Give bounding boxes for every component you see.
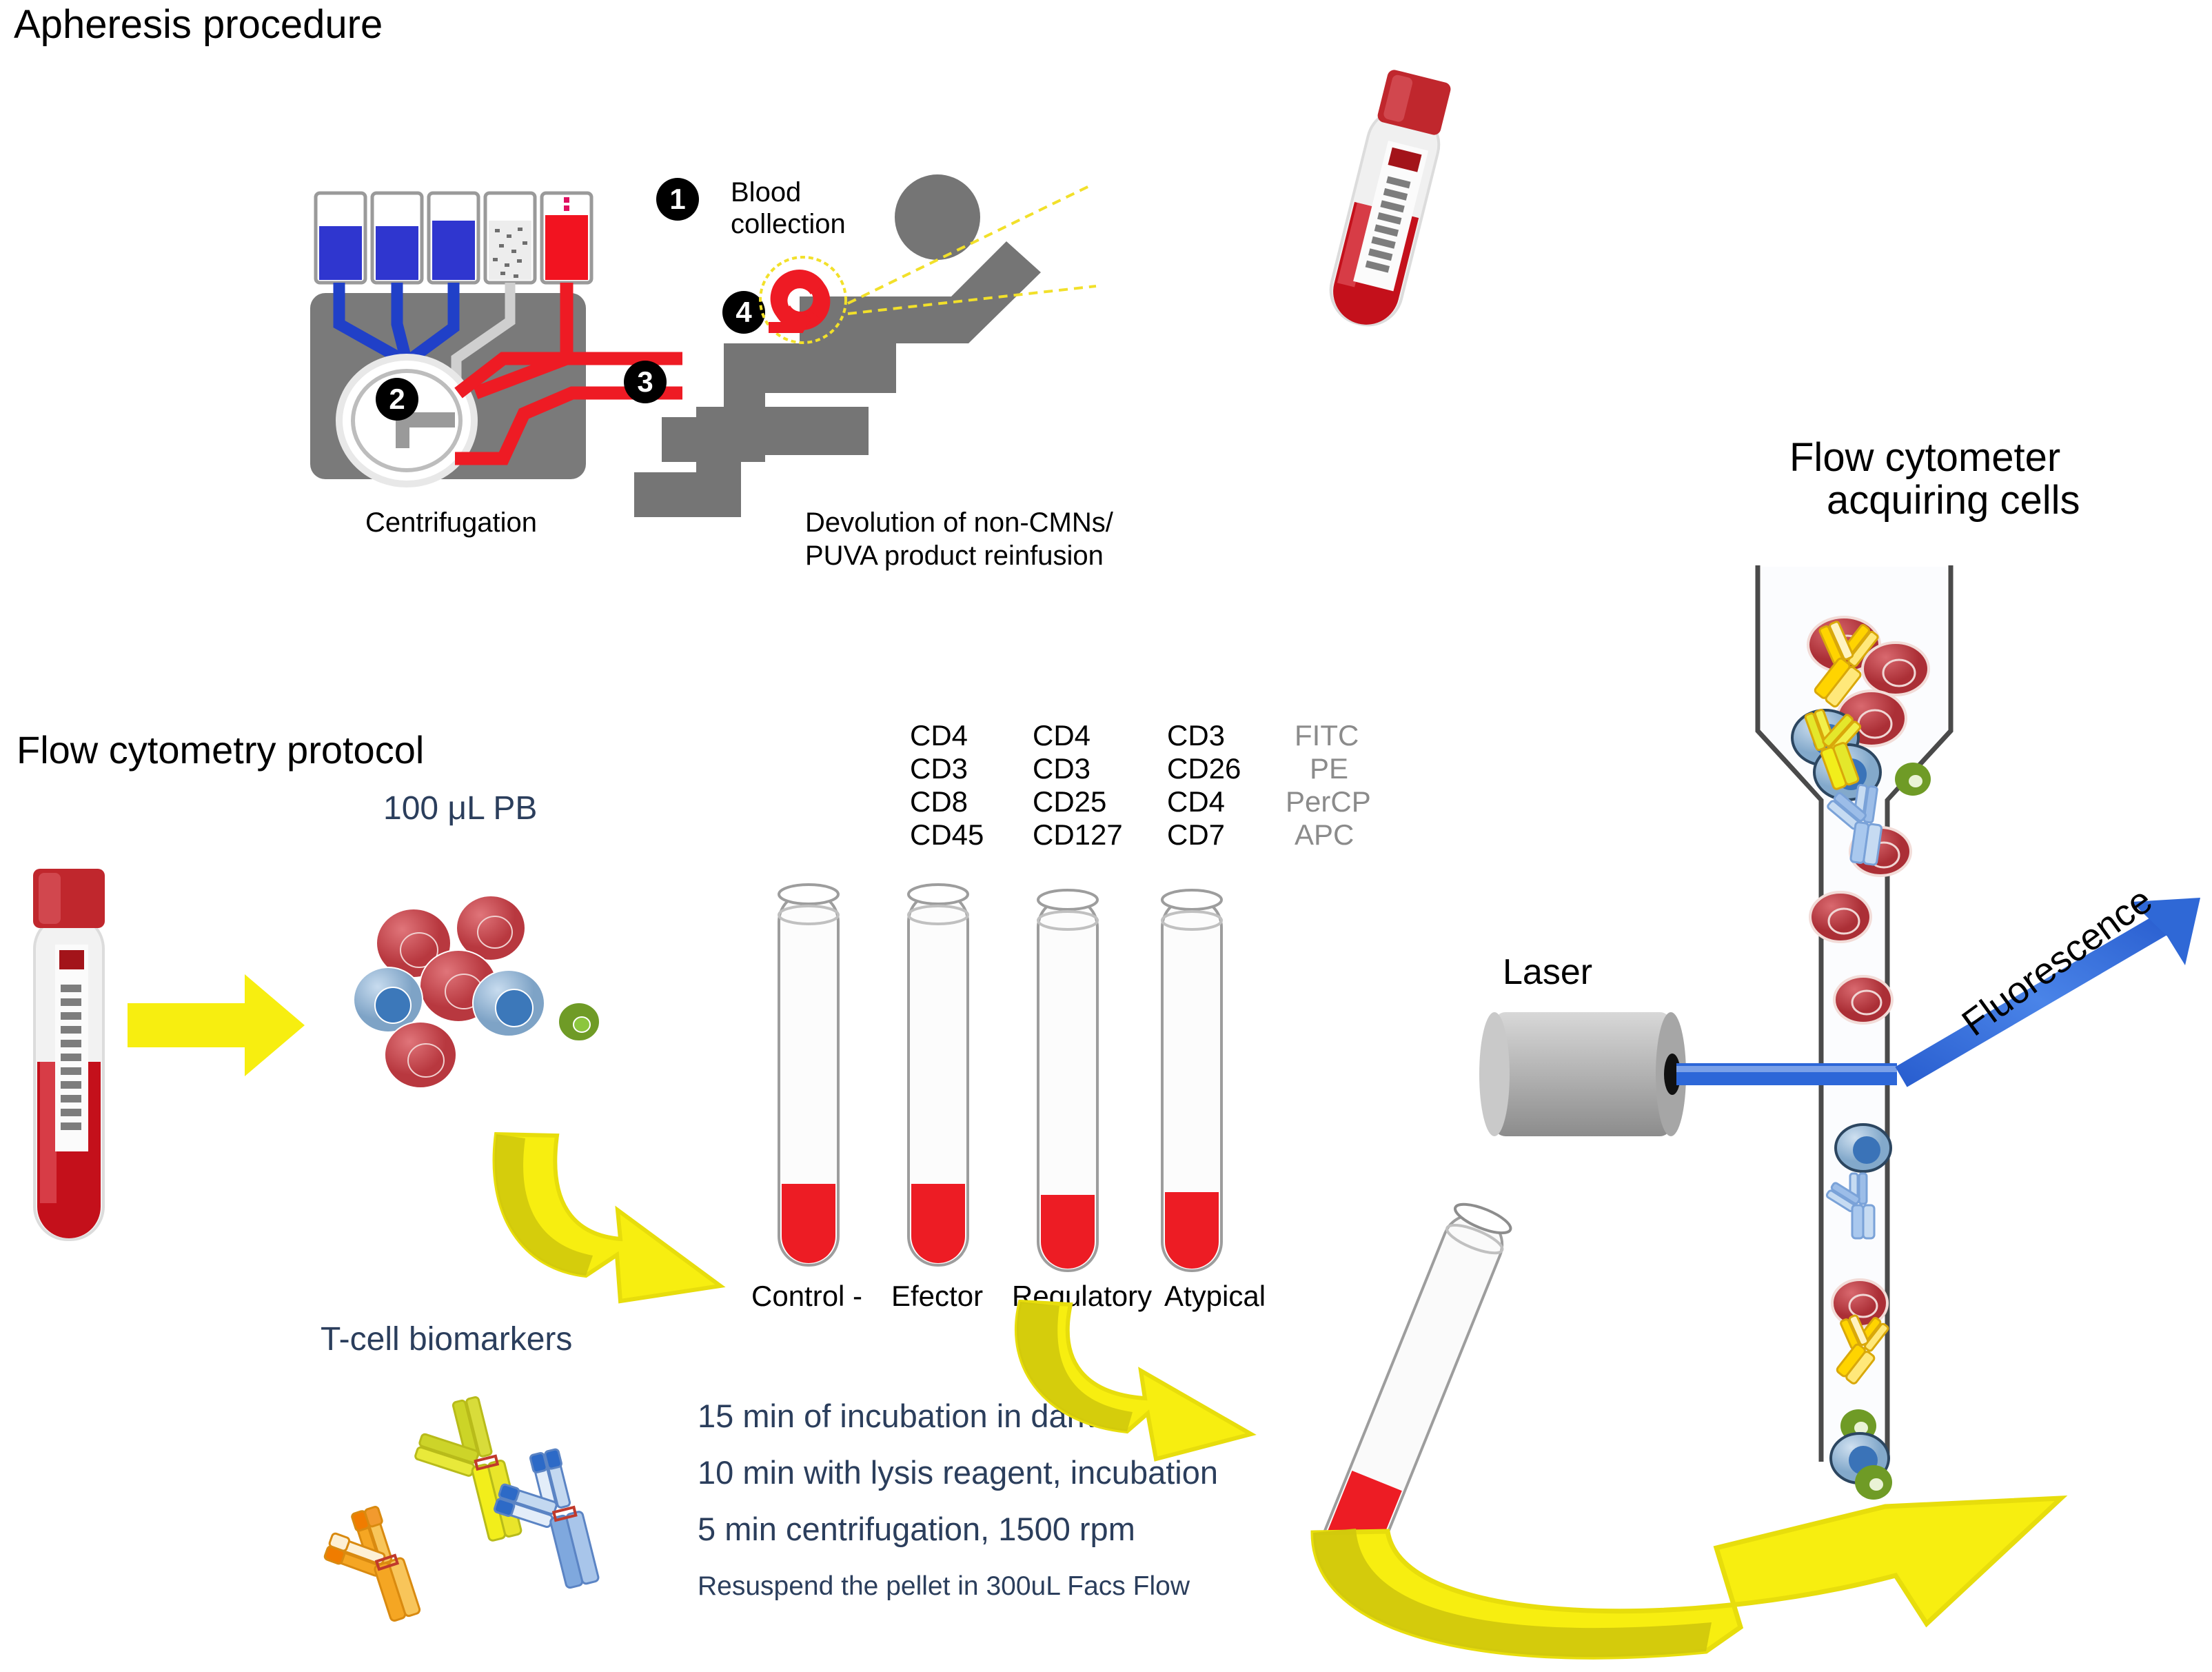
blood-cell-cluster xyxy=(345,889,634,1110)
bag-blood xyxy=(542,193,591,283)
marker-atypical-4: CD7 xyxy=(1167,818,1225,852)
yellow-curve-arrow-2 xyxy=(1003,1296,1348,1469)
tube-label-efector: Efector xyxy=(891,1279,983,1313)
marker-atypical-2: CD26 xyxy=(1167,752,1241,786)
biomarkers-label: T-cell biomarkers xyxy=(321,1320,572,1360)
marker-efector-2: CD3 xyxy=(910,752,968,786)
flow-protocol-title: Flow cytometry protocol xyxy=(17,727,424,773)
sample-volume-label: 100 μL PB xyxy=(383,789,537,829)
bag-plasma-1 xyxy=(316,193,365,283)
antibody-yellow-icon xyxy=(404,1394,522,1554)
marker-regulatory-4: CD127 xyxy=(1033,818,1123,852)
test-tube-efector xyxy=(909,885,968,1265)
tube-label-control: Control - xyxy=(751,1279,862,1313)
fluorochrome-fitc: FITC xyxy=(1295,718,1359,753)
marker-efector-1: CD4 xyxy=(910,718,968,753)
marker-regulatory-2: CD3 xyxy=(1033,752,1090,786)
marker-atypical-3: CD4 xyxy=(1167,785,1225,819)
marker-panel: CD4 CD3 CD8 CD45 CD4 CD3 CD25 CD127 CD3 … xyxy=(910,718,1406,843)
test-tube-regulatory xyxy=(1038,890,1097,1271)
bag-saline xyxy=(485,193,535,283)
test-tube-control xyxy=(779,885,838,1265)
test-tube-rack xyxy=(772,865,1282,1293)
marker-efector-3: CD8 xyxy=(910,785,968,819)
patient-figure xyxy=(593,159,1103,558)
laser-unit xyxy=(1482,1000,1923,1151)
channel-cells-lower xyxy=(1825,1448,1963,1544)
fluorochrome-percp: PerCP xyxy=(1286,785,1371,819)
marker-atypical-1: CD3 xyxy=(1167,718,1225,753)
marker-regulatory-1: CD4 xyxy=(1033,718,1090,753)
protocol-step-3: 5 min centrifugation, 1500 rpm xyxy=(698,1510,1135,1548)
yellow-straight-arrow xyxy=(124,962,310,1100)
protocol-step-4: Resuspend the pellet in 300uL Facs Flow xyxy=(698,1571,1190,1602)
blood-tube-collected xyxy=(1299,55,1479,351)
antibody-group xyxy=(296,1393,620,1593)
page-title: Apheresis procedure xyxy=(14,1,383,48)
fluorochrome-pe: PE xyxy=(1310,752,1348,786)
marker-regulatory-3: CD25 xyxy=(1033,785,1106,819)
blood-tube-sample xyxy=(19,862,119,1262)
laser-label: Laser xyxy=(1503,951,1592,994)
marker-efector-4: CD45 xyxy=(910,818,984,852)
step-badge-2: 2 xyxy=(376,378,418,421)
bag-plasma-2 xyxy=(372,193,422,283)
fluorochrome-apc: APC xyxy=(1295,818,1354,852)
test-tube-atypical xyxy=(1162,890,1221,1271)
cytometer-title-line1: Flow cytometer xyxy=(1789,434,2060,481)
centrifugation-label: Centrifugation xyxy=(365,507,537,539)
cytometer-title-line2: acquiring cells xyxy=(1827,477,2080,524)
antibody-orange-icon xyxy=(314,1504,420,1636)
bag-plasma-3 xyxy=(429,193,478,283)
fluorescence-arrow xyxy=(1889,896,2212,1103)
